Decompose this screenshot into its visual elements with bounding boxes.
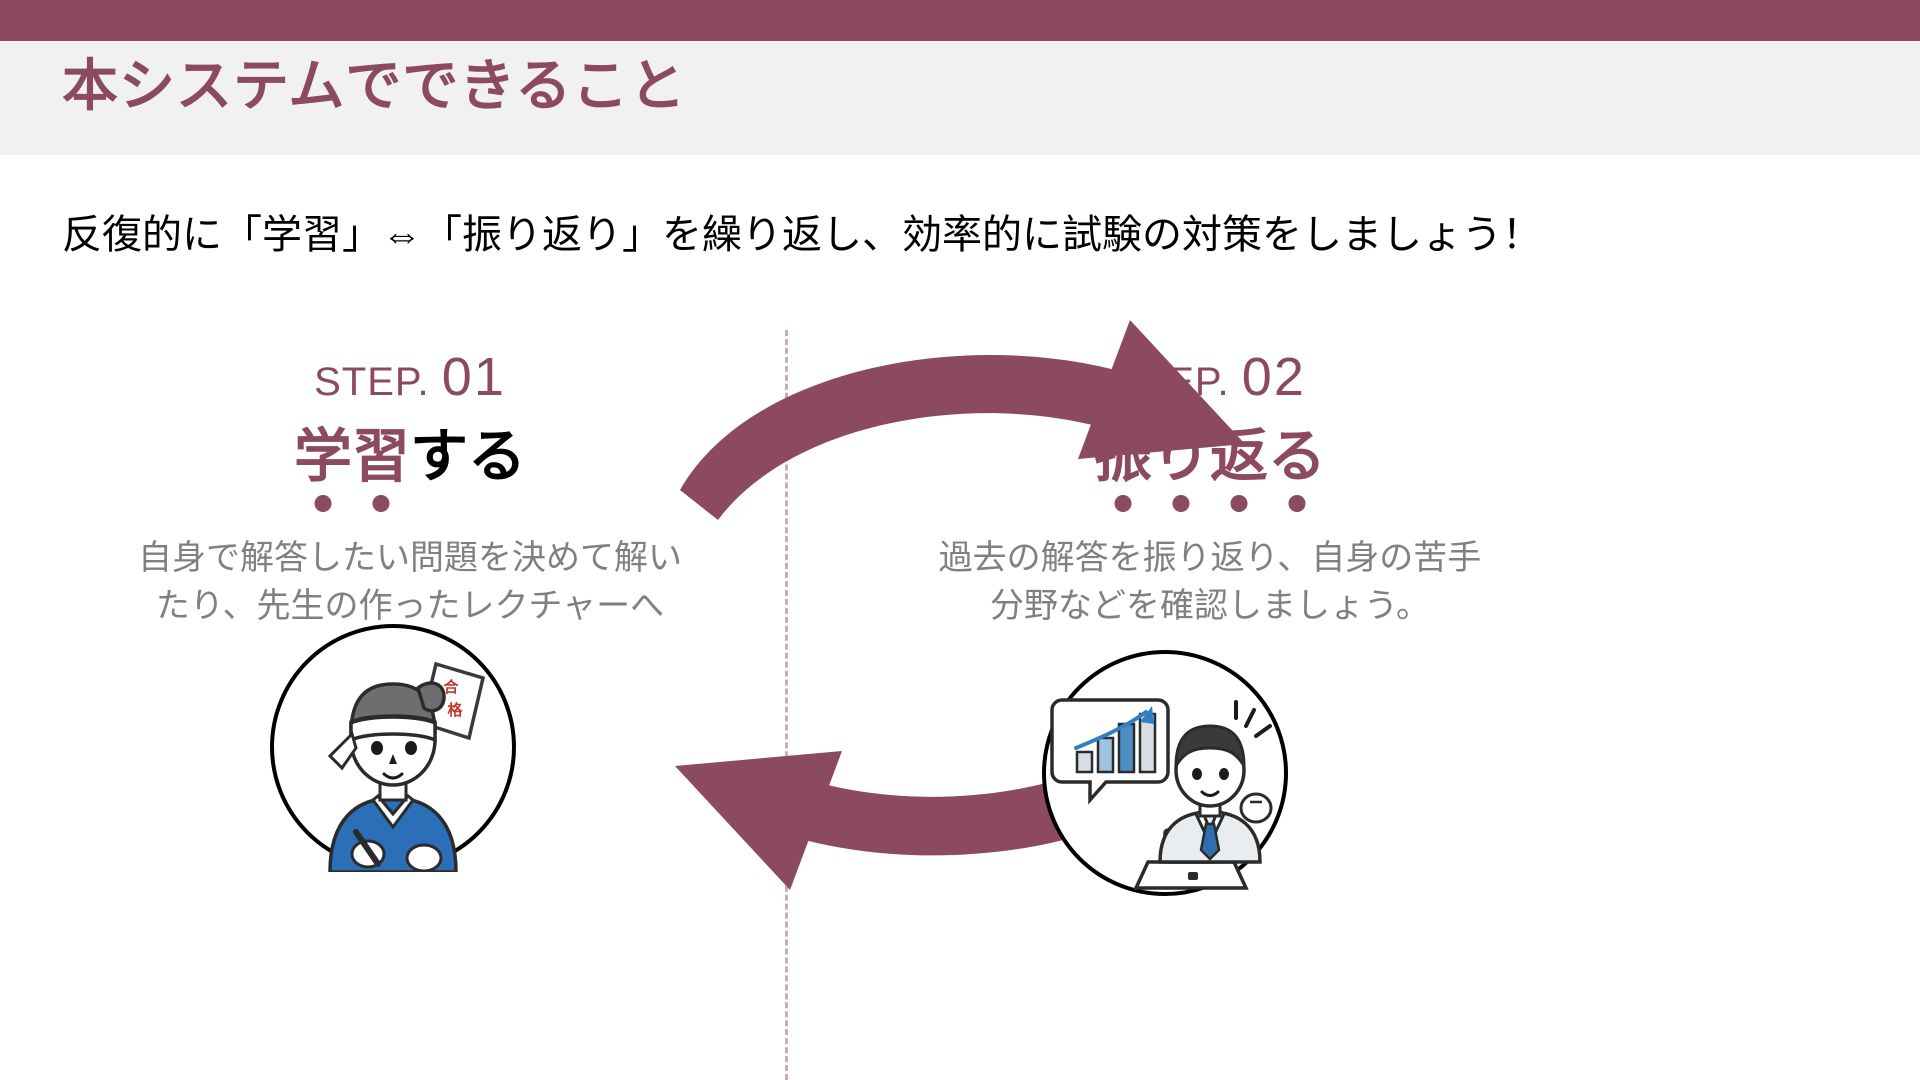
step-1-heading: 学習する (60, 428, 760, 486)
step-1-eyebrow-word: STEP. (314, 360, 429, 404)
step-2-description: 過去の解答を振り返り、自身の苦手 分野などを確認しましょう。 (860, 534, 1560, 631)
step-2-eyebrow-number: 02 (1242, 347, 1306, 407)
emphasis-char: る (1268, 428, 1326, 486)
step-2-eyebrow-word: STEP. (1114, 360, 1229, 404)
emphasis-char: 学 (294, 428, 352, 486)
step-1-heading-emphasis: 学習 (294, 428, 410, 486)
top-accent-bar (0, 0, 1920, 41)
step-2-eyebrow: STEP. 02 (860, 350, 1560, 404)
student-with-certificate-illustration: 合 格 (268, 622, 518, 872)
emphasis-char: 習 (352, 428, 410, 486)
emphasis-char: 返 (1210, 428, 1268, 486)
step-1-eyebrow-number: 01 (442, 347, 506, 407)
step-2-heading-emphasis: 振り返る (1094, 428, 1326, 486)
businessman-with-bar-chart-illustration (1040, 648, 1290, 898)
step-1-eyebrow: STEP. 01 (60, 350, 760, 404)
step-column-2: STEP. 02 振り返る 過去の解答を振り返り、自身の苦手 分野などを確認しま… (860, 350, 1560, 631)
subtitle-text: 反復的に「学習」⇔「振り返り」を繰り返し、効率的に試験の対策をしましょう！ (62, 215, 1542, 255)
svg-text:格: 格 (447, 701, 463, 719)
emphasis-char: 振 (1094, 428, 1152, 486)
step-1-heading-plain: する (410, 428, 526, 486)
step-2-heading: 振り返る (860, 428, 1560, 486)
emphasis-char: り (1152, 428, 1210, 486)
page-title: 本システムでできること (62, 58, 686, 114)
center-dashed-divider (785, 330, 788, 1080)
